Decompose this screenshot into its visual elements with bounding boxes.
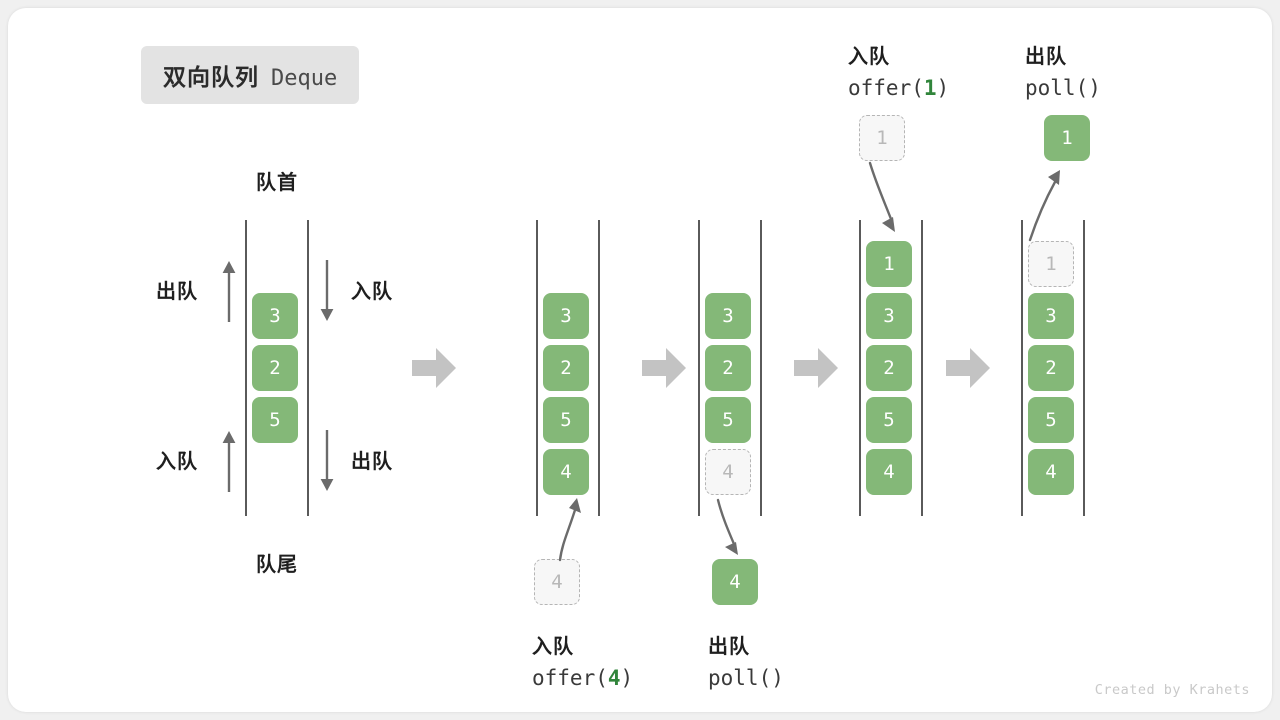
caption-cn-p2: 出队	[708, 630, 750, 659]
deque-rail-left-p3	[859, 220, 861, 516]
label-dequeue-rear: 出队	[351, 445, 393, 474]
deque-cell: 3	[252, 293, 298, 339]
deque-cell: 3	[866, 293, 912, 339]
title-cn: 双向队列	[163, 58, 259, 92]
deque-cell: 4	[866, 449, 912, 495]
code-arg-p3: 1	[924, 76, 937, 100]
label-enqueue-front: 入队	[351, 275, 393, 304]
floating-ghost-cell: 4	[534, 559, 580, 605]
deque-cell: 2	[1028, 345, 1074, 391]
watermark: Created by Krahets	[1095, 682, 1250, 698]
caption-code-p3: offer(1)	[848, 76, 949, 100]
deque-cell: 5	[705, 397, 751, 443]
deque-rail-right-p4	[1083, 220, 1085, 516]
deque-rail-right-p3	[921, 220, 923, 516]
code-close-p1: )	[621, 666, 634, 690]
deque-cell: 2	[866, 345, 912, 391]
deque-cell-new: 1	[866, 241, 912, 287]
deque-cell: 5	[866, 397, 912, 443]
deque-cell: 3	[543, 293, 589, 339]
offer-rear-arrow	[548, 494, 596, 560]
code-open-p1: offer(	[532, 666, 608, 690]
label-enqueue-rear: 入队	[156, 445, 198, 474]
deque-cell-removed: 1	[1028, 241, 1074, 287]
arrow-down-front	[318, 260, 336, 322]
step-arrow-icon	[794, 348, 838, 388]
deque-cell: 3	[1028, 293, 1074, 339]
caption-code-p2: poll()	[708, 666, 784, 690]
deque-cell-removed: 4	[705, 449, 751, 495]
code-arg-p1: 4	[608, 666, 621, 690]
code-open-p4: poll(	[1025, 76, 1088, 100]
deque-cell: 4	[1028, 449, 1074, 495]
step-arrow-icon	[642, 348, 686, 388]
caption-cn-p1: 入队	[532, 630, 574, 659]
caption-code-p4: poll()	[1025, 76, 1101, 100]
caption-code-p1: offer(4)	[532, 666, 633, 690]
deque-rail-left-p2	[698, 220, 700, 516]
deque-cell: 5	[543, 397, 589, 443]
step-arrow-icon	[412, 348, 456, 388]
deque-rail-left-p1	[536, 220, 538, 516]
step-arrow-icon	[946, 348, 990, 388]
code-close-p3: )	[937, 76, 950, 100]
arrow-up-rear	[220, 430, 238, 492]
floating-result-cell: 1	[1044, 115, 1090, 161]
deque-cell: 3	[705, 293, 751, 339]
deque-cell: 2	[705, 345, 751, 391]
label-front: 队首	[246, 166, 308, 195]
diagram-title-badge: 双向队列 Deque	[141, 46, 359, 104]
offer-front-arrow	[866, 163, 910, 235]
deque-cell-new: 4	[543, 449, 589, 495]
arrow-up-front	[220, 260, 238, 322]
deque-rail-right-p0	[307, 220, 309, 516]
deque-rail-right-p2	[760, 220, 762, 516]
deque-cell: 5	[1028, 397, 1074, 443]
caption-cn-p4: 出队	[1025, 40, 1067, 69]
deque-rail-left-p4	[1021, 220, 1023, 516]
deque-rail-right-p1	[598, 220, 600, 516]
code-open-p2: poll(	[708, 666, 771, 690]
label-rear: 队尾	[246, 548, 308, 577]
deque-cell: 2	[252, 345, 298, 391]
label-dequeue-front: 出队	[156, 275, 198, 304]
diagram-canvas: 双向队列 Deque 队首 队尾 出队 入队 入队 出队 3 2 5 3 2 5	[8, 8, 1272, 712]
code-close-p2: )	[771, 666, 784, 690]
poll-rear-arrow	[712, 500, 756, 558]
title-en: Deque	[271, 66, 337, 91]
arrow-down-rear	[318, 430, 336, 492]
poll-front-arrow	[1022, 168, 1070, 240]
deque-cell: 5	[252, 397, 298, 443]
floating-ghost-cell: 1	[859, 115, 905, 161]
deque-cell: 2	[543, 345, 589, 391]
code-close-p4: )	[1088, 76, 1101, 100]
caption-cn-p3: 入队	[848, 40, 890, 69]
code-open-p3: offer(	[848, 76, 924, 100]
floating-result-cell: 4	[712, 559, 758, 605]
deque-rail-left-p0	[245, 220, 247, 516]
